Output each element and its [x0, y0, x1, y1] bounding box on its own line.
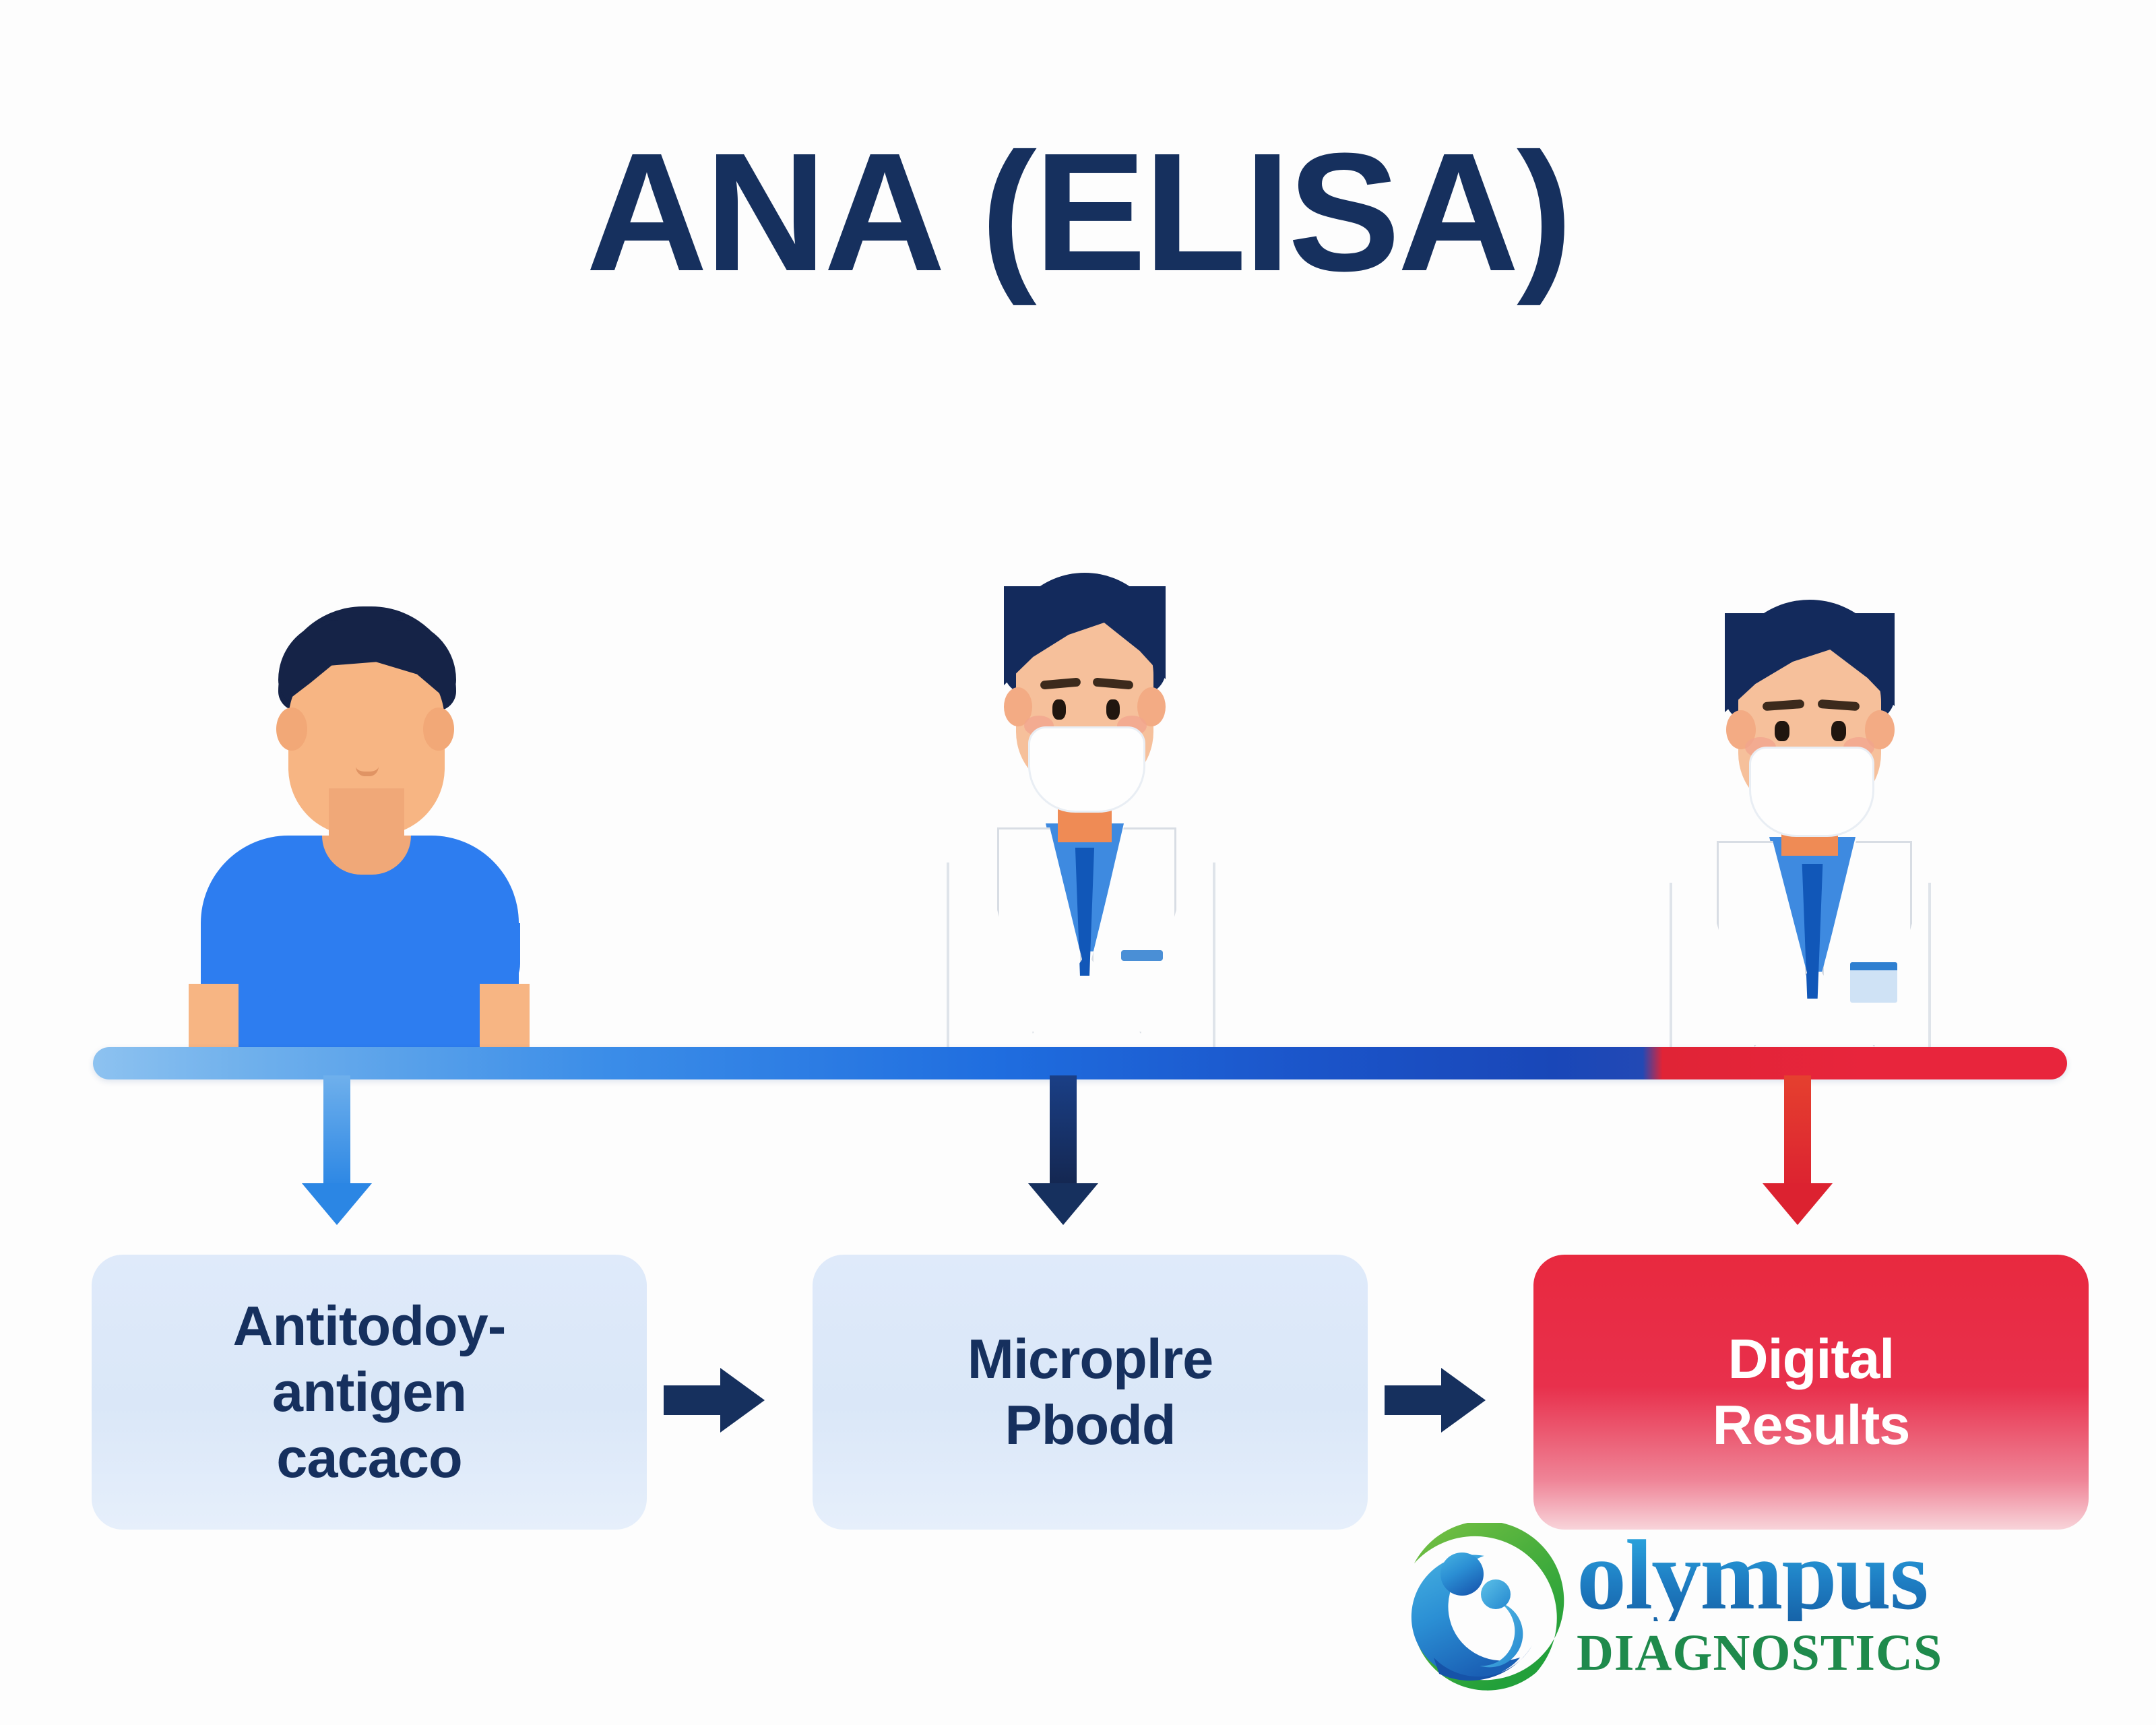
lab-technician-center-illustration — [896, 573, 1273, 1051]
id-badge-right — [1850, 962, 1897, 1003]
down-arrow-head-3 — [1763, 1183, 1833, 1225]
patient-illustration — [168, 606, 546, 1051]
technician-eye-right-right — [1831, 721, 1846, 741]
step-card-1-label: Antitodoy- antigen cacaco — [233, 1293, 506, 1491]
brand-logo: olympus DIAGNOSTICS — [1374, 1516, 2102, 1718]
step-card-antibody-antigen[interactable]: Antitodoy- antigen cacaco — [92, 1255, 647, 1530]
step-card-digital-results[interactable]: Digital Results — [1533, 1255, 2089, 1530]
face-mask-right — [1749, 747, 1874, 837]
technician-eye-left-center — [1052, 699, 1066, 720]
step-arrow-2-head — [1441, 1368, 1486, 1433]
coat-line-left — [947, 862, 949, 1051]
step-arrow-2 — [1385, 1368, 1486, 1433]
step-card-microplate[interactable]: Microplre Pbodd — [813, 1255, 1368, 1530]
down-arrow-step-3 — [1784, 1075, 1811, 1224]
down-arrow-shaft-1 — [323, 1075, 350, 1189]
technician-eye-right-center — [1106, 699, 1120, 720]
patient-ear-right — [423, 708, 454, 751]
step-arrow-1-head — [720, 1368, 765, 1433]
down-arrow-head-1 — [302, 1183, 372, 1225]
step-card-2-label: Microplre Pbodd — [968, 1326, 1213, 1458]
logo-tagline: DIAGNOSTICS — [1577, 1624, 2089, 1683]
coat-line-right — [1213, 862, 1215, 1051]
logo-text: olympus DIAGNOSTICS — [1577, 1530, 2089, 1683]
step-arrow-2-shaft — [1385, 1385, 1447, 1415]
coat-line-right-right — [1928, 883, 1931, 1051]
step-arrow-1 — [664, 1368, 765, 1433]
technician-eye-left-right — [1775, 721, 1789, 741]
page-title: ANA (ELISA) — [0, 128, 2156, 296]
down-arrow-step-1 — [323, 1075, 350, 1224]
lab-technician-right-illustration — [1637, 600, 2015, 1051]
process-timeline-bar — [93, 1047, 2067, 1079]
step-arrow-1-shaft — [664, 1385, 726, 1415]
step-card-3-label: Digital Results — [1713, 1326, 1910, 1458]
coat-line-left-right — [1670, 883, 1672, 1051]
patient-ear-left — [276, 708, 307, 751]
down-arrow-shaft-3 — [1784, 1075, 1811, 1189]
coat-pocket-pen-center — [1121, 950, 1163, 961]
logo-wordmark: olympus — [1577, 1530, 2089, 1621]
down-arrow-head-2 — [1028, 1183, 1098, 1225]
down-arrow-shaft-2 — [1050, 1075, 1077, 1189]
patient-nose — [356, 751, 379, 776]
down-arrow-step-2 — [1050, 1075, 1077, 1224]
olympus-emblem-icon — [1381, 1523, 1570, 1712]
infographic-canvas: ANA (ELISA) — [0, 0, 2156, 1725]
face-mask-center — [1028, 726, 1145, 813]
